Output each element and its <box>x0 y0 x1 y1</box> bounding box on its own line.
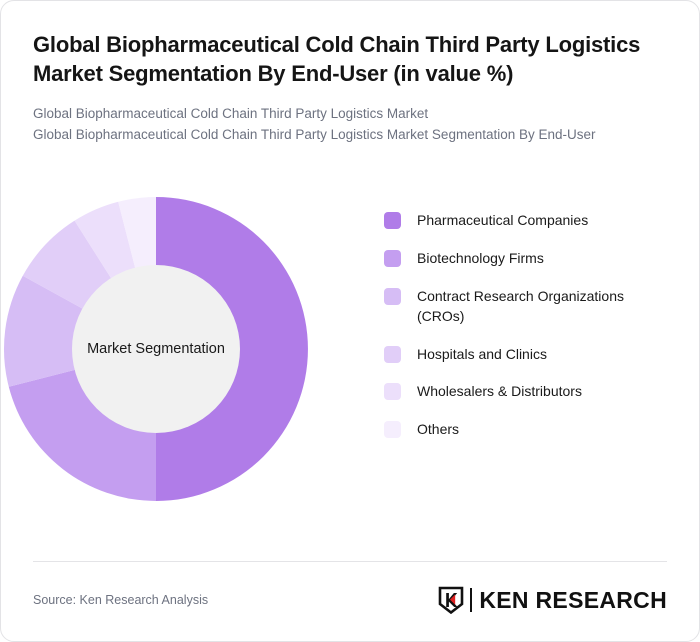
legend-item[interactable]: Contract Research Organizations (CROs) <box>384 287 699 327</box>
legend-item-label: Wholesalers & Distributors <box>417 382 582 402</box>
brand-logo: KEN RESEARCH <box>438 586 667 614</box>
chart-plot-area: Market Segmentation Pharmaceutical Compa… <box>1 193 699 513</box>
logo-divider <box>470 588 472 612</box>
legend-color-swatch <box>384 250 401 267</box>
legend-item-label: Biotechnology Firms <box>417 249 544 269</box>
legend-item[interactable]: Biotechnology Firms <box>384 249 699 269</box>
legend-color-swatch <box>384 421 401 438</box>
page-title: Global Biopharmaceutical Cold Chain Thir… <box>33 31 655 88</box>
chart-footer: Source: Ken Research Analysis KEN RESEAR… <box>33 586 667 614</box>
footer-divider <box>33 561 667 562</box>
breadcrumb-line-1: Global Biopharmaceutical Cold Chain Thir… <box>33 104 653 125</box>
source-note: Source: Ken Research Analysis <box>33 593 208 607</box>
donut-hole <box>72 265 240 433</box>
legend-item[interactable]: Pharmaceutical Companies <box>384 211 699 231</box>
donut-svg <box>0 193 312 505</box>
legend-color-swatch <box>384 288 401 305</box>
legend-color-swatch <box>384 346 401 363</box>
legend-item[interactable]: Others <box>384 420 699 440</box>
legend-item-label: Hospitals and Clinics <box>417 345 547 365</box>
breadcrumb: Global Biopharmaceutical Cold Chain Thir… <box>33 104 653 145</box>
legend-item-label: Pharmaceutical Companies <box>417 211 588 231</box>
logo-wordmark: KEN RESEARCH <box>479 587 667 614</box>
ken-research-shield-k-logo-icon <box>438 586 464 614</box>
legend-color-swatch <box>384 212 401 229</box>
chart-legend: Pharmaceutical CompaniesBiotechnology Fi… <box>384 211 699 440</box>
legend-item[interactable]: Hospitals and Clinics <box>384 345 699 365</box>
legend-item-label: Contract Research Organizations (CROs) <box>417 287 632 327</box>
breadcrumb-line-2: Global Biopharmaceutical Cold Chain Thir… <box>33 125 653 146</box>
chart-header: Global Biopharmaceutical Cold Chain Thir… <box>33 31 667 145</box>
legend-item[interactable]: Wholesalers & Distributors <box>384 382 699 402</box>
legend-item-label: Others <box>417 420 459 440</box>
donut-chart: Market Segmentation <box>0 193 312 505</box>
chart-card: Global Biopharmaceutical Cold Chain Thir… <box>0 0 700 642</box>
legend-color-swatch <box>384 383 401 400</box>
